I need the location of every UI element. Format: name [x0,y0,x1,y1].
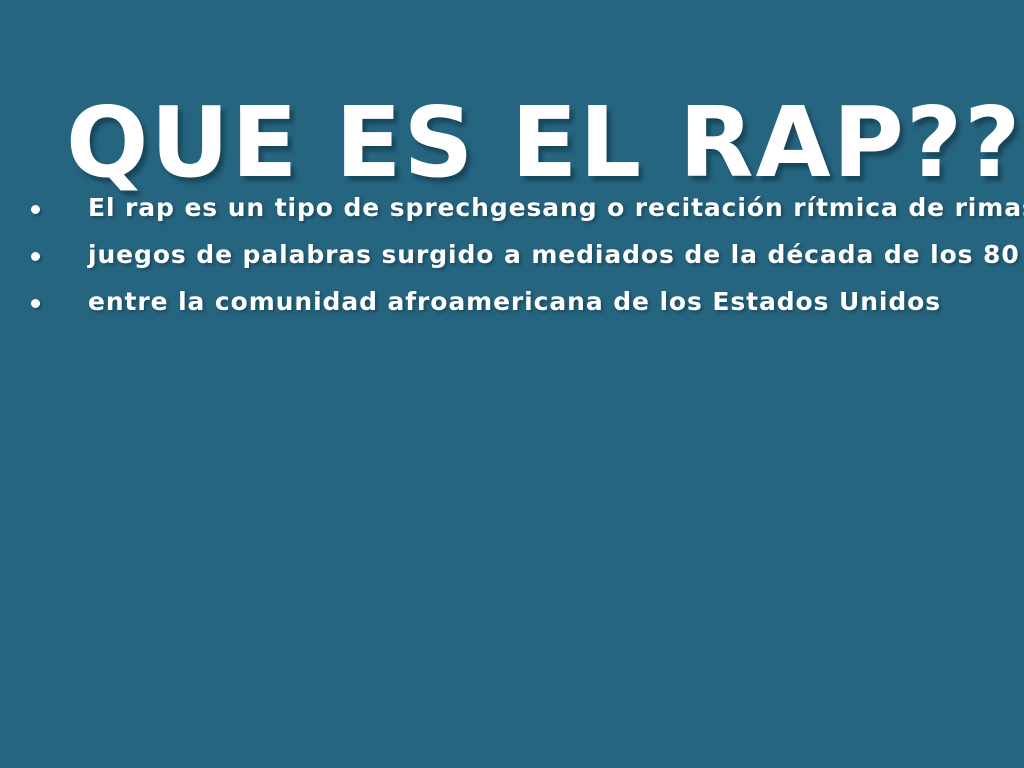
list-item: El rap es un tipo de sprechgesang o reci… [22,188,1002,235]
list-item: entre la comunidad afroamericana de los … [22,282,1002,329]
bullet-dot-icon [31,299,40,308]
bullet-dot-icon [31,252,40,261]
list-item-label: El rap es un tipo de sprechgesang o reci… [88,188,1024,228]
list-item-label: entre la comunidad afroamericana de los … [88,282,941,322]
slide-title: QUE ES EL RAP??? [66,87,966,199]
slide-empty-content-area [0,345,1024,768]
list-item-label: juegos de palabras surgido a mediados de… [88,235,1020,275]
presentation-slide: QUE ES EL RAP??? El rap es un tipo de sp… [0,0,1024,768]
bullet-dot-icon [31,205,40,214]
slide-bullet-list: El rap es un tipo de sprechgesang o reci… [22,188,1002,329]
list-item: juegos de palabras surgido a mediados de… [22,235,1002,282]
